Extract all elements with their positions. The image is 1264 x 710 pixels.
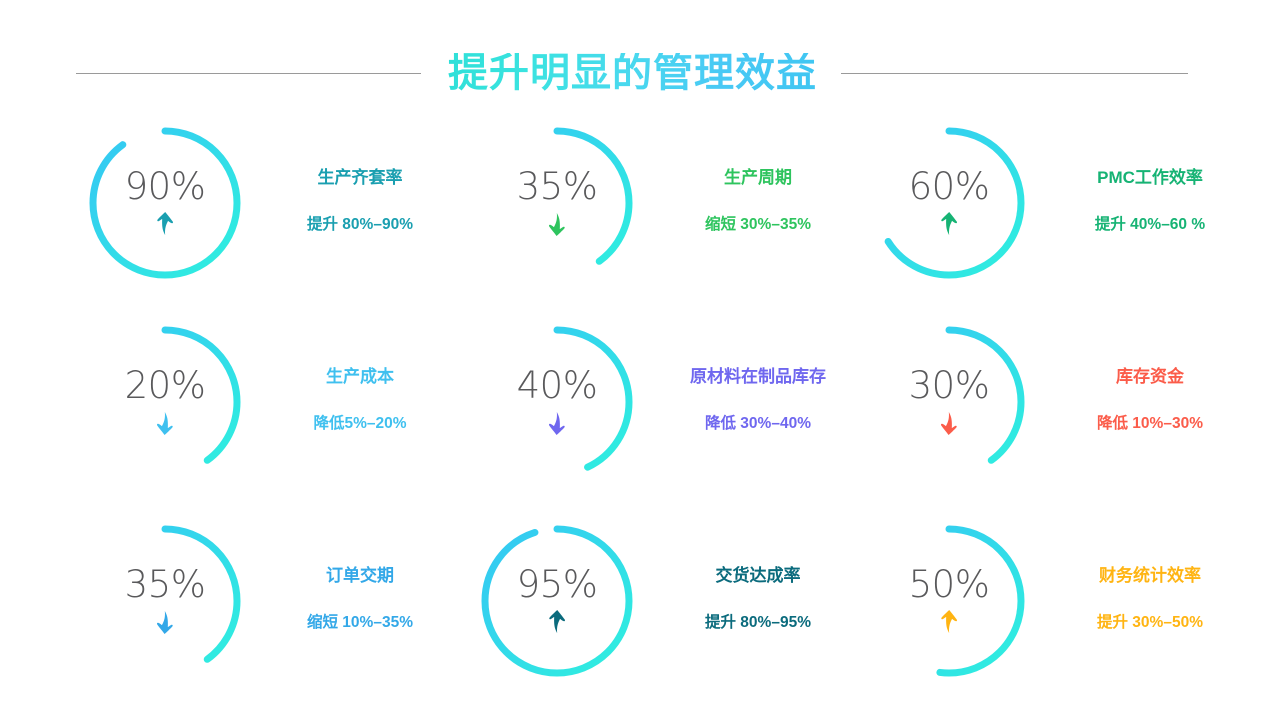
arrow-down-icon xyxy=(542,209,572,239)
slide-canvas: 提升明显的管理效益 90%生产齐套率提升 80%–90%35%生产周期缩短 30… xyxy=(0,0,1264,710)
kpi-text-block: 原材料在制品库存降低 30%–40% xyxy=(642,317,856,434)
title-divider-left xyxy=(76,73,421,74)
title-divider-right xyxy=(841,73,1188,74)
ring-center: 40% xyxy=(472,317,642,487)
kpi-item-order-lead-time[interactable]: 35%订单交期缩短 10%–35% xyxy=(72,516,464,710)
kpi-item-raw-material-wip-inventory[interactable]: 40%原材料在制品库存降低 30%–40% xyxy=(464,317,856,516)
arrow-up-icon xyxy=(542,607,572,637)
slide-header: 提升明显的管理效益 xyxy=(0,44,1264,102)
kpi-label: 库存资金 xyxy=(1052,367,1248,387)
kpi-text-block: 生产齐套率提升 80%–90% xyxy=(250,118,464,235)
kpi-sublabel: 提升 30%–50% xyxy=(1052,614,1248,633)
arrow-up-icon xyxy=(934,209,964,239)
kpi-label: 生产齐套率 xyxy=(256,168,464,188)
kpi-sublabel: 降低 30%–40% xyxy=(660,415,856,434)
kpi-sublabel: 降低 10%–30% xyxy=(1052,415,1248,434)
ring-center: 35% xyxy=(80,516,250,686)
page-title: 提升明显的管理效益 xyxy=(448,53,817,93)
kpi-sublabel: 降低5%–20% xyxy=(256,415,464,434)
kpi-sublabel: 提升 40%–60 % xyxy=(1052,216,1248,235)
kpi-label: 原材料在制品库存 xyxy=(660,367,856,387)
kpi-item-inventory-capital[interactable]: 30%库存资金降低 10%–30% xyxy=(856,317,1248,516)
kpi-item-delivery-achievement-rate[interactable]: 95%交货达成率提升 80%–95% xyxy=(464,516,856,710)
arrow-up-icon xyxy=(150,209,180,239)
kpi-label: 生产成本 xyxy=(256,367,464,387)
kpi-grid: 90%生产齐套率提升 80%–90%35%生产周期缩短 30%–35%60%PM… xyxy=(72,118,1200,710)
kpi-sublabel: 提升 80%–95% xyxy=(660,614,856,633)
kpi-label: PMC工作效率 xyxy=(1052,168,1248,188)
kpi-text-block: 财务统计效率提升 30%–50% xyxy=(1034,516,1248,633)
ring-center: 90% xyxy=(80,118,250,288)
ring-center: 60% xyxy=(864,118,1034,288)
kpi-item-production-cost[interactable]: 20%生产成本降低5%–20% xyxy=(72,317,464,516)
ring-center: 20% xyxy=(80,317,250,487)
kpi-text-block: 库存资金降低 10%–30% xyxy=(1034,317,1248,434)
arrow-down-icon xyxy=(150,408,180,438)
progress-ring-production-cycle: 35% xyxy=(472,118,642,288)
arrow-down-icon xyxy=(150,607,180,637)
kpi-label: 财务统计效率 xyxy=(1052,566,1248,586)
kpi-text-block: PMC工作效率提升 40%–60 % xyxy=(1034,118,1248,235)
progress-ring-pmc-work-efficiency: 60% xyxy=(864,118,1034,288)
progress-ring-production-kitting-rate: 90% xyxy=(80,118,250,288)
kpi-label: 交货达成率 xyxy=(660,566,856,586)
kpi-text-block: 生产周期缩短 30%–35% xyxy=(642,118,856,235)
ring-center: 50% xyxy=(864,516,1034,686)
kpi-sublabel: 提升 80%–90% xyxy=(256,216,464,235)
ring-center: 95% xyxy=(472,516,642,686)
kpi-text-block: 生产成本降低5%–20% xyxy=(250,317,464,434)
ring-center: 30% xyxy=(864,317,1034,487)
progress-ring-raw-material-wip-inventory: 40% xyxy=(472,317,642,487)
ring-center: 35% xyxy=(472,118,642,288)
kpi-item-production-kitting-rate[interactable]: 90%生产齐套率提升 80%–90% xyxy=(72,118,464,317)
progress-ring-production-cost: 20% xyxy=(80,317,250,487)
arrow-up-icon xyxy=(934,607,964,637)
arrow-down-icon xyxy=(542,408,572,438)
progress-ring-inventory-capital: 30% xyxy=(864,317,1034,487)
progress-ring-delivery-achievement-rate: 95% xyxy=(472,516,642,686)
kpi-item-finance-statistics-efficiency[interactable]: 50%财务统计效率提升 30%–50% xyxy=(856,516,1248,710)
progress-ring-finance-statistics-efficiency: 50% xyxy=(864,516,1034,686)
kpi-text-block: 订单交期缩短 10%–35% xyxy=(250,516,464,633)
kpi-label: 生产周期 xyxy=(660,168,856,188)
kpi-sublabel: 缩短 10%–35% xyxy=(256,614,464,633)
kpi-text-block: 交货达成率提升 80%–95% xyxy=(642,516,856,633)
kpi-item-pmc-work-efficiency[interactable]: 60%PMC工作效率提升 40%–60 % xyxy=(856,118,1248,317)
kpi-label: 订单交期 xyxy=(256,566,464,586)
progress-ring-order-lead-time: 35% xyxy=(80,516,250,686)
kpi-item-production-cycle[interactable]: 35%生产周期缩短 30%–35% xyxy=(464,118,856,317)
arrow-down-icon xyxy=(934,408,964,438)
kpi-sublabel: 缩短 30%–35% xyxy=(660,216,856,235)
